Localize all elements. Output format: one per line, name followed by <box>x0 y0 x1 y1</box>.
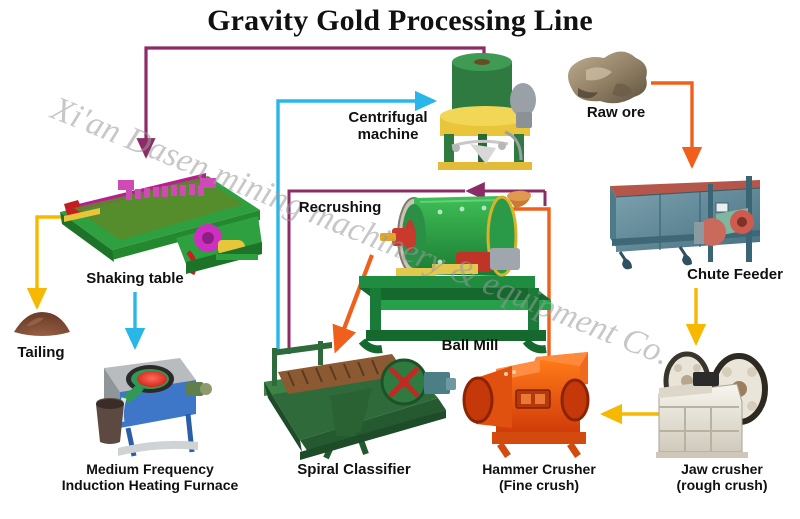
node-label-shaking-table: Shaking table <box>75 271 195 288</box>
node-label-ball-mill: Ball Mill <box>420 338 520 355</box>
node-label-raw-ore: Raw ore <box>566 105 666 122</box>
node-label-chute-feeder: Chute Feeder <box>675 267 795 284</box>
node-label-hammer-crusher: Hammer Crusher (Fine crush) <box>464 462 614 493</box>
node-label-spiral-classifier: Spiral Classifier <box>284 462 424 479</box>
node-label-tailing: Tailing <box>6 345 76 362</box>
node-label-recrushing: Recrushing <box>290 200 390 217</box>
node-label-centrifugal-machine: Centrifugal machine <box>333 110 443 144</box>
node-label-induction-furnace: Medium Frequency Induction Heating Furna… <box>35 462 265 493</box>
node-label-jaw-crusher: Jaw crusher (rough crush) <box>652 462 792 493</box>
flowchart-diagram: Gravity Gold Processing Line <box>0 0 800 519</box>
